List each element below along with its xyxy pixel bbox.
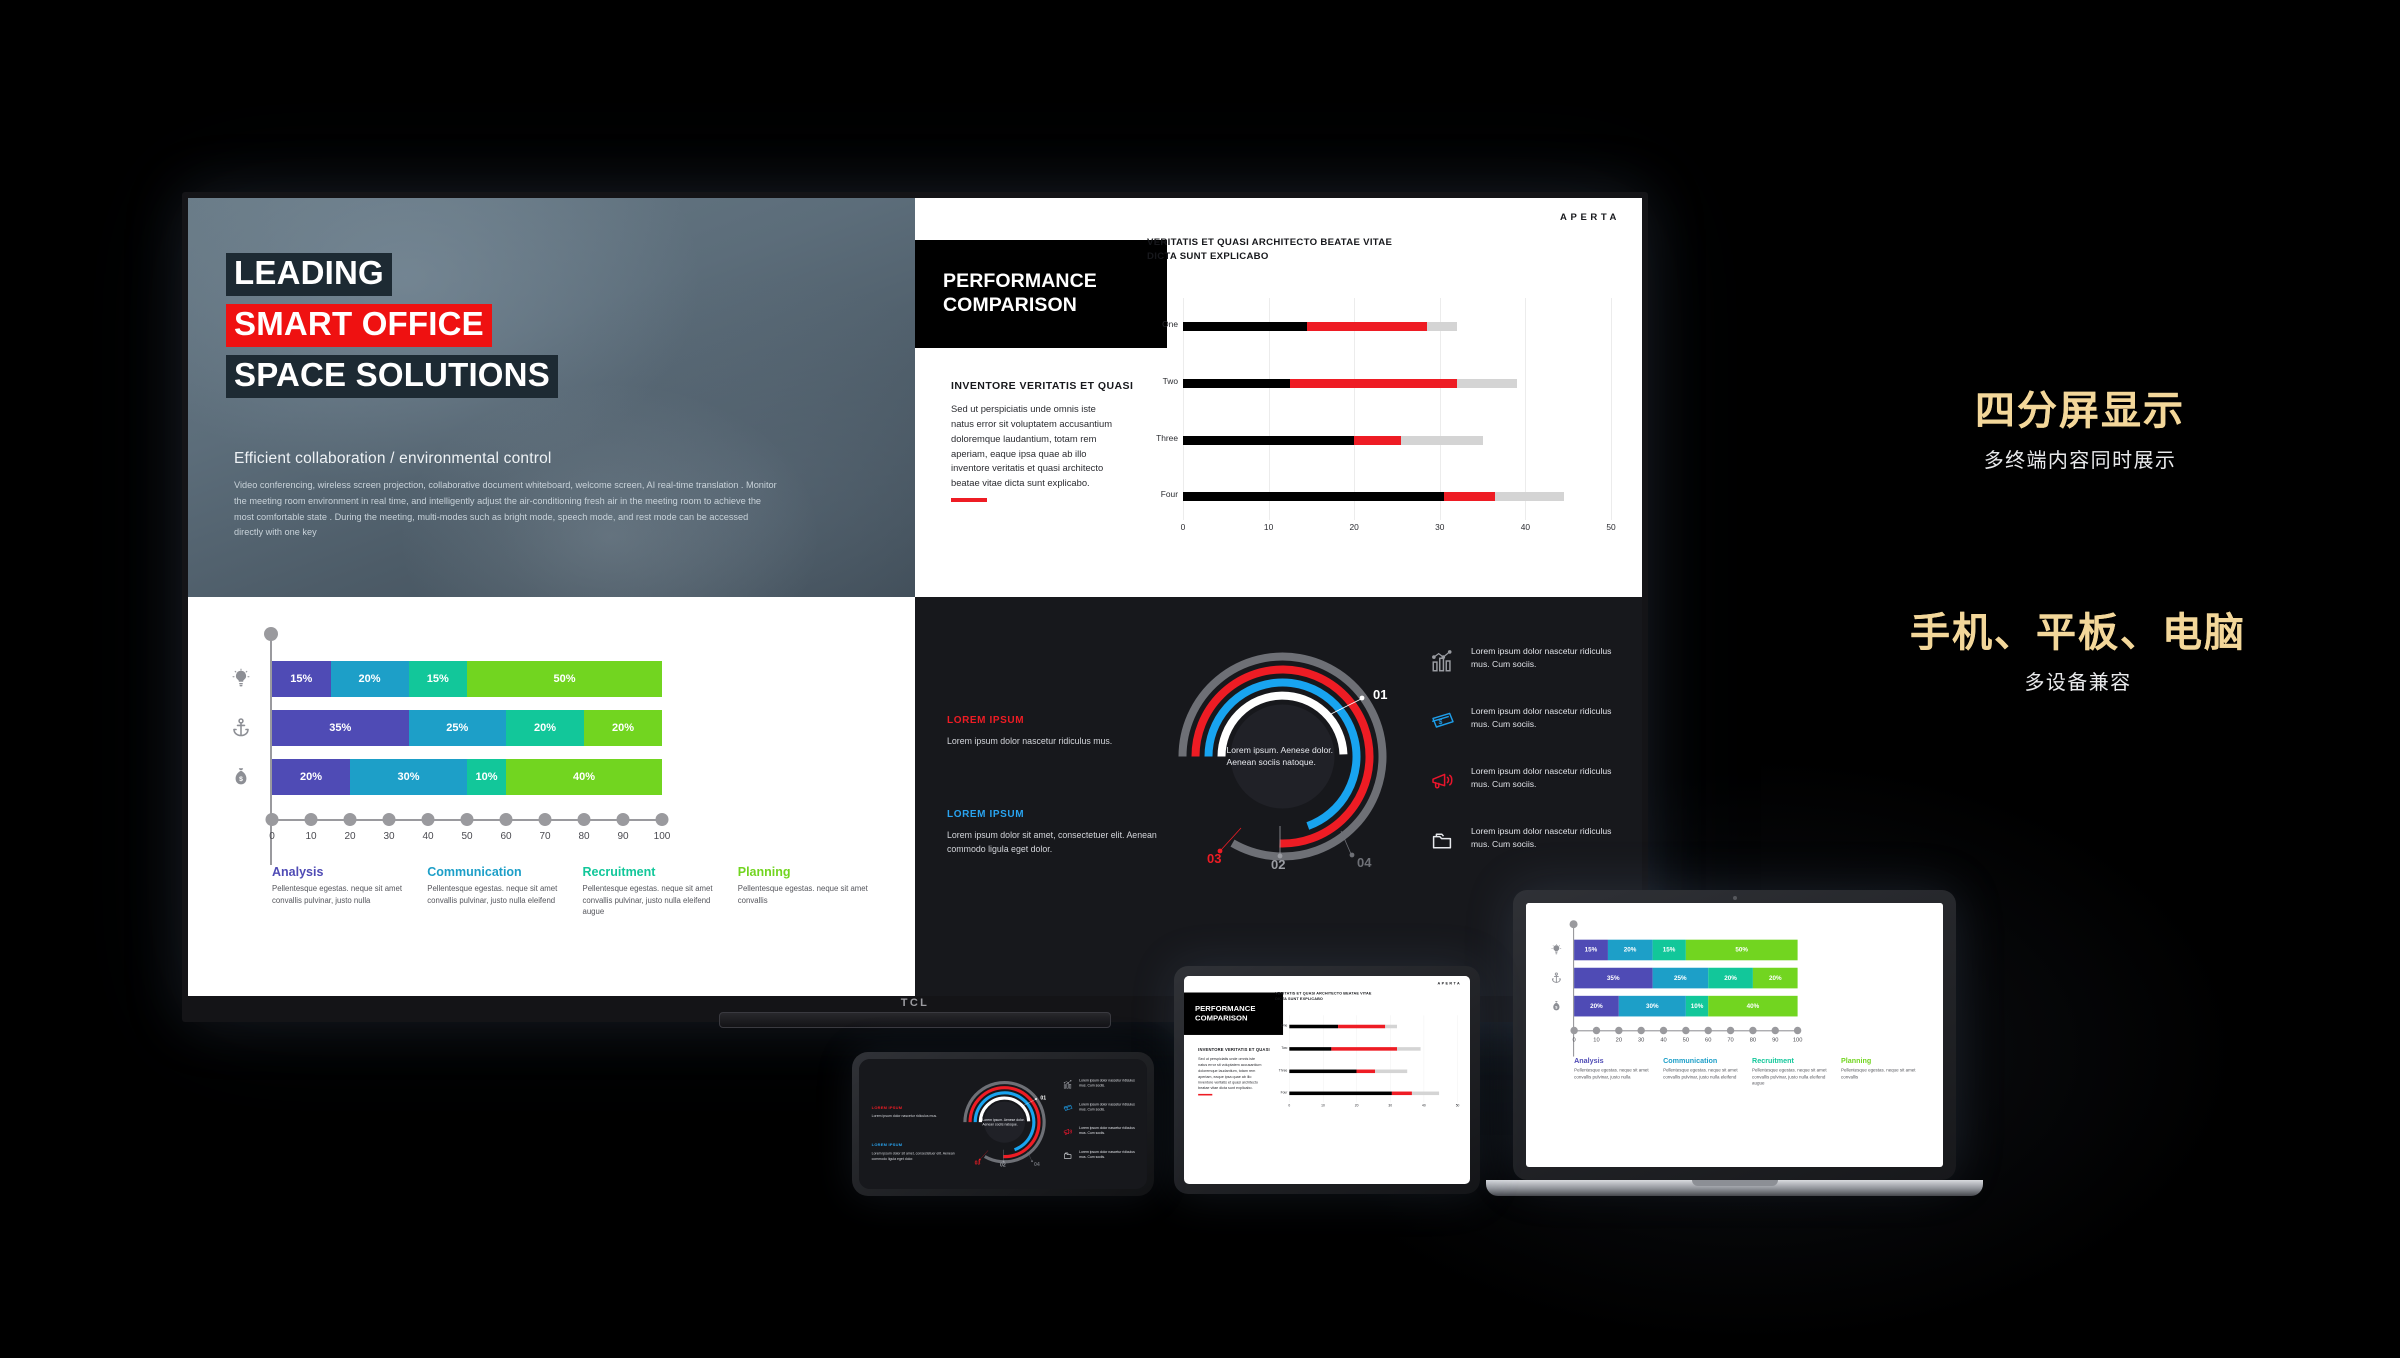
- stacked-segment-analysis: 15%: [1574, 940, 1608, 961]
- legend-text: Pellentesque egestas. neque sit amet con…: [1574, 1067, 1655, 1080]
- x-tick-label: 60: [1705, 1037, 1711, 1043]
- donut-list-item: Lorem ipsum dolor nascetur ridiculus mus…: [1061, 1078, 1136, 1091]
- x-axis-dot: [656, 813, 669, 826]
- donut-kicker-b: LOREM IPSUM: [872, 1143, 963, 1147]
- donut-item-text: Lorem ipsum dolor nascetur ridiculus mus…: [1079, 1149, 1136, 1159]
- laptop-notch: [1692, 1180, 1778, 1186]
- bar-segment-black: [1183, 379, 1290, 388]
- x-axis-dot: [500, 813, 513, 826]
- stacked-bar-row: $20%30%10%40%: [1574, 996, 1797, 1017]
- donut-item-text: Lorem ipsum dolor nascetur ridiculus mus…: [1079, 1102, 1136, 1112]
- bar-segment-red: [1444, 492, 1495, 501]
- x-tick-label: 40: [1521, 522, 1530, 532]
- bar-category-label: One: [1281, 1024, 1287, 1028]
- banknote-icon: $: [1061, 1102, 1075, 1115]
- tv-device: LEADING SMART OFFICE SPACE SOLUTIONS Eff…: [182, 192, 1648, 1022]
- x-tick-label: 50: [461, 831, 472, 842]
- chart-bar-row: Four: [1289, 1092, 1457, 1096]
- stacked-bars: 15%20%15%50%35%25%20%20%$20%30%10%40%: [272, 661, 662, 808]
- chart-legend: AnalysisPellentesque egestas. neque sit …: [272, 865, 893, 918]
- chart-bar-row: One: [1183, 322, 1611, 331]
- lightbulb-icon: [226, 664, 256, 694]
- bar-category-label: Three: [1156, 433, 1178, 443]
- performance-slide-tablet: APERTA PERFORMANCE COMPARISON INVENTORE …: [1184, 976, 1470, 1133]
- donut-list-item: $Lorem ipsum dolor nascetur ridiculus mu…: [1425, 705, 1615, 737]
- x-tick-label: 20: [1355, 1103, 1359, 1107]
- legend-item: RecruitmentPellentesque egestas. neque s…: [1752, 1057, 1841, 1087]
- legend-title: Analysis: [1574, 1057, 1655, 1065]
- tv-stand: [719, 1012, 1111, 1028]
- chart-heading-line2: DICTA SUNT EXPLICABO: [1275, 997, 1393, 1003]
- laptop-camera-icon: [1733, 896, 1737, 900]
- legend-text: Pellentesque egestas. neque sit amet con…: [272, 883, 413, 906]
- x-axis-dot: [1637, 1027, 1644, 1034]
- red-rule: [951, 498, 987, 502]
- x-axis-dot: [1772, 1027, 1779, 1034]
- donut-text-block-b: LOREM IPSUMLorem ipsum dolor sit amet, c…: [947, 809, 1177, 856]
- chart-bar-row: Two: [1289, 1047, 1457, 1051]
- folder-icon: [1061, 1149, 1075, 1162]
- legend-item: CommunicationPellentesque egestas. neque…: [1663, 1057, 1752, 1087]
- x-axis-dot: [305, 813, 318, 826]
- x-axis-dot: [266, 813, 279, 826]
- anchor-icon: [1548, 969, 1565, 986]
- bar-segment-gray: [1385, 1025, 1397, 1029]
- tv-screen: LEADING SMART OFFICE SPACE SOLUTIONS Eff…: [188, 198, 1642, 996]
- stacked-segment-analysis: 35%: [1574, 968, 1652, 989]
- x-tick-label: 50: [1456, 1103, 1460, 1107]
- x-axis-dot: [1615, 1027, 1622, 1034]
- x-tick-label: 50: [1683, 1037, 1689, 1043]
- stacked-bar-row: 15%20%15%50%: [1574, 940, 1797, 961]
- tablet-screen[interactable]: APERTA PERFORMANCE COMPARISON INVENTORE …: [1184, 976, 1470, 1184]
- banknote-icon: $: [1425, 705, 1461, 737]
- performance-title-block: PERFORMANCE COMPARISON: [1184, 993, 1283, 1035]
- megaphone-icon: [1061, 1126, 1075, 1139]
- bar-segment-gray: [1495, 492, 1563, 501]
- x-axis-dot: [422, 813, 435, 826]
- stacked-segment-recruitment: 15%: [1652, 940, 1686, 961]
- legend-title: Planning: [738, 865, 879, 879]
- chart-bars: OneTwoThreeFour: [1183, 298, 1611, 520]
- legend-title: Planning: [1841, 1057, 1922, 1065]
- stacked-segment-planning: 50%: [467, 661, 662, 697]
- svg-text:$: $: [1439, 719, 1443, 726]
- stacked-bars: 15%20%15%50%35%25%20%20%$20%30%10%40%: [1574, 940, 1797, 1024]
- bar-segment-black: [1289, 1025, 1338, 1029]
- bar-segment-gray: [1397, 1047, 1421, 1051]
- red-rule: [1198, 1094, 1212, 1096]
- hero-line-3: SPACE SOLUTIONS: [226, 355, 558, 398]
- legend-title: Analysis: [272, 865, 413, 879]
- stacked-segment-communication: 20%: [1608, 940, 1653, 961]
- x-tick-label: 70: [539, 831, 550, 842]
- performance-subhead: INVENTORE VERITATIS ET QUASI: [1198, 1048, 1270, 1053]
- performance-slide: APERTA PERFORMANCE COMPARISON INVENTORE …: [915, 198, 1642, 597]
- donut-list-item: Lorem ipsum dolor nascetur ridiculus mus…: [1061, 1149, 1136, 1162]
- x-tick-label: 20: [1350, 522, 1359, 532]
- hero-line-2: SMART OFFICE: [226, 304, 492, 347]
- x-tick-label: 0: [1573, 1037, 1576, 1043]
- ring-label-01: 01: [1373, 687, 1387, 702]
- donut-item-text: Lorem ipsum dolor nascetur ridiculus mus…: [1079, 1078, 1136, 1088]
- quadrant-performance[interactable]: APERTA PERFORMANCE COMPARISON INVENTORE …: [915, 198, 1642, 597]
- performance-title-block: PERFORMANCE COMPARISON: [915, 240, 1167, 348]
- x-tick-label: 90: [617, 831, 628, 842]
- x-tick-label: 0: [1288, 1103, 1290, 1107]
- laptop-device: 15%20%15%50%35%25%20%20%$20%30%10%40%010…: [1513, 890, 1983, 1196]
- bar-segment-red: [1392, 1092, 1412, 1096]
- chart-x-axis: 01020304050: [1183, 522, 1611, 538]
- performance-paragraph: Sed ut perspiciatis unde omnis iste natu…: [1198, 1056, 1265, 1091]
- x-tick-label: 40: [422, 831, 433, 842]
- stacked-segment-planning: 50%: [1686, 940, 1798, 961]
- legend-item: PlanningPellentesque egestas. neque sit …: [738, 865, 893, 918]
- bar-segment-gray: [1375, 1069, 1407, 1073]
- x-axis-dot: [383, 813, 396, 826]
- x-axis-dot: [461, 813, 474, 826]
- stacked-segment-analysis: 20%: [272, 759, 350, 795]
- x-axis-dot: [1570, 1027, 1577, 1034]
- stacked-bar-slide-laptop: 15%20%15%50%35%25%20%20%$20%30%10%40%010…: [1526, 903, 1943, 1132]
- bar-segment-red: [1331, 1047, 1397, 1051]
- x-tick-label: 0: [269, 831, 275, 842]
- legend-item: CommunicationPellentesque egestas. neque…: [427, 865, 582, 918]
- x-axis-dot: [539, 813, 552, 826]
- marketing-title-2: 手机、平板、电脑: [1838, 600, 2318, 658]
- stacked-bar-row: $20%30%10%40%: [272, 759, 662, 795]
- money-bag-icon: $: [226, 762, 256, 792]
- hero-slide: LEADING SMART OFFICE SPACE SOLUTIONS Eff…: [188, 198, 915, 597]
- stacked-segment-analysis: 15%: [272, 661, 331, 697]
- chart-x-axis: 01020304050: [1289, 1103, 1457, 1109]
- performance-title-line2: COMPARISON: [1195, 1014, 1283, 1023]
- chart-legend: AnalysisPellentesque egestas. neque sit …: [1574, 1057, 1930, 1087]
- hero-line-1: LEADING: [226, 253, 392, 296]
- lightbulb-icon: [1548, 941, 1565, 958]
- laptop-lid: 15%20%15%50%35%25%20%20%$20%30%10%40%010…: [1513, 890, 1956, 1180]
- x-tick-label: 0: [1181, 522, 1186, 532]
- multi-ring-gauge: Lorem ipsum. Aenese dolor. Aenean sociis…: [962, 1080, 1047, 1165]
- marketing-block-2: 手机、平板、电脑 多设备兼容: [1838, 600, 2318, 695]
- quadrant-stacked-bars[interactable]: 15%20%15%50%35%25%20%20%$20%30%10%40%010…: [188, 597, 915, 996]
- chart-plot-area: OneTwoThreeFour 01020304050: [1289, 1015, 1457, 1109]
- anchor-icon: [226, 713, 256, 743]
- laptop-screen[interactable]: 15%20%15%50%35%25%20%20%$20%30%10%40%010…: [1526, 903, 1943, 1167]
- marketing-sub-1: 多终端内容同时展示: [1870, 444, 2290, 473]
- bar-category-label: Two: [1163, 376, 1178, 386]
- performance-subhead: INVENTORE VERITATIS ET QUASI: [951, 380, 1133, 392]
- bar-segment-red: [1354, 436, 1401, 445]
- bar-segment-black: [1183, 322, 1307, 331]
- bar-category-label: One: [1162, 319, 1178, 329]
- stacked-segment-communication: 25%: [1652, 968, 1708, 989]
- stacked-segment-communication: 20%: [331, 661, 409, 697]
- legend-text: Pellentesque egestas. neque sit amet con…: [1752, 1067, 1833, 1087]
- bar-segment-red: [1290, 379, 1457, 388]
- bar-segment-black: [1289, 1047, 1331, 1051]
- donut-text-block-b: LOREM IPSUMLorem ipsum dolor sit amet, c…: [872, 1143, 963, 1162]
- stacked-segment-recruitment: 10%: [467, 759, 506, 795]
- legend-title: Communication: [427, 865, 568, 879]
- donut-center-label: Lorem ipsum. Aenese dolor. Aenean sociis…: [1227, 744, 1339, 770]
- gridline: [1611, 298, 1612, 520]
- marketing-block-1: 四分屏显示 多终端内容同时展示: [1870, 378, 2290, 473]
- stacked-segment-analysis: 20%: [1574, 996, 1619, 1017]
- ring-label-01: 01: [1040, 1095, 1046, 1101]
- legend-title: Communication: [1663, 1057, 1744, 1065]
- bar-category-label: Four: [1161, 489, 1178, 499]
- bar-category-label: Three: [1279, 1068, 1288, 1072]
- stacked-segment-communication: 25%: [409, 710, 507, 746]
- legend-text: Pellentesque egestas. neque sit amet con…: [427, 883, 568, 906]
- bar-segment-red: [1357, 1069, 1376, 1073]
- bar-segment-red: [1338, 1025, 1385, 1029]
- aperta-logo: APERTA: [1438, 982, 1462, 986]
- stacked-segment-planning: 40%: [1708, 996, 1797, 1017]
- donut-item-text: Lorem ipsum dolor nascetur ridiculus mus…: [1471, 825, 1615, 851]
- ring-label-02: 02: [1000, 1162, 1006, 1168]
- donut-item-text: Lorem ipsum dolor nascetur ridiculus mus…: [1471, 705, 1615, 731]
- donut-text-block-a: LOREM IPSUMLorem ipsum dolor nascetur ri…: [872, 1106, 947, 1119]
- bar-segment-gray: [1401, 436, 1482, 445]
- x-tick-label: 70: [1727, 1037, 1733, 1043]
- donut-text-a: Lorem ipsum dolor nascetur ridiculus mus…: [872, 1114, 947, 1119]
- x-tick-label: 60: [500, 831, 511, 842]
- stacked-segment-recruitment: 20%: [506, 710, 584, 746]
- tablet-device: APERTA PERFORMANCE COMPARISON INVENTORE …: [1174, 966, 1480, 1194]
- performance-title-line2: COMPARISON: [943, 294, 1167, 318]
- stacked-segment-recruitment: 20%: [1708, 968, 1753, 989]
- bar-category-label: Two: [1281, 1046, 1287, 1050]
- chart-bar-row: Four: [1183, 492, 1611, 501]
- ring-label-02: 02: [1271, 857, 1285, 872]
- bar-segment-black: [1183, 436, 1354, 445]
- multi-ring-gauge: Lorem ipsum. Aenese dolor. Aenean sociis…: [1175, 649, 1390, 864]
- folder-icon: [1425, 825, 1461, 857]
- donut-item-list: Lorem ipsum dolor nascetur ridiculus mus…: [1425, 645, 1615, 885]
- chart-bar-row: Two: [1183, 379, 1611, 388]
- bar-segment-gray: [1457, 379, 1517, 388]
- ring-label-03: 03: [1207, 851, 1221, 866]
- chart-bar-row: One: [1289, 1025, 1457, 1029]
- x-tick-label: 10: [1593, 1037, 1599, 1043]
- x-axis-dot: [1727, 1027, 1734, 1034]
- donut-text-b: Lorem ipsum dolor sit amet, consectetuer…: [872, 1151, 963, 1162]
- donut-list-item: Lorem ipsum dolor nascetur ridiculus mus…: [1425, 765, 1615, 797]
- performance-paragraph: Sed ut perspiciatis unde omnis iste natu…: [951, 402, 1121, 491]
- x-tick-label: 100: [1793, 1037, 1803, 1043]
- chart-heading: VERITATIS ET QUASI ARCHITECTO BEATAE VIT…: [1275, 991, 1393, 1002]
- donut-item-list: Lorem ipsum dolor nascetur ridiculus mus…: [1061, 1078, 1136, 1173]
- donut-text-a: Lorem ipsum dolor nascetur ridiculus mus…: [947, 735, 1137, 749]
- x-axis-dot: [1704, 1027, 1711, 1034]
- money-bag-icon: $: [1548, 998, 1565, 1015]
- stacked-segment-planning: 20%: [584, 710, 662, 746]
- hero-body: Video conferencing, wireless screen proj…: [234, 478, 779, 541]
- performance-chart: VERITATIS ET QUASI ARCHITECTO BEATAE VIT…: [1147, 236, 1619, 566]
- chart-heading: VERITATIS ET QUASI ARCHITECTO BEATAE VIT…: [1147, 236, 1447, 265]
- donut-kicker-b: LOREM IPSUM: [947, 809, 1177, 820]
- phone-screen[interactable]: LOREM IPSUMLorem ipsum dolor nascetur ri…: [859, 1059, 1147, 1189]
- x-tick-label: 40: [1660, 1037, 1666, 1043]
- legend-item: AnalysisPellentesque egestas. neque sit …: [1574, 1057, 1663, 1087]
- x-tick-label: 20: [344, 831, 355, 842]
- stacked-segment-planning: 40%: [506, 759, 662, 795]
- stacked-segment-communication: 30%: [1619, 996, 1686, 1017]
- aperta-logo: APERTA: [1560, 212, 1620, 223]
- x-tick-label: 30: [383, 831, 394, 842]
- legend-item: RecruitmentPellentesque egestas. neque s…: [583, 865, 738, 918]
- chart-heading-line2: DICTA SUNT EXPLICABO: [1147, 250, 1447, 264]
- donut-item-text: Lorem ipsum dolor nascetur ridiculus mus…: [1471, 765, 1615, 791]
- donut-list-item: $Lorem ipsum dolor nascetur ridiculus mu…: [1061, 1102, 1136, 1115]
- legend-text: Pellentesque egestas. neque sit amet con…: [583, 883, 724, 918]
- x-axis-dot: [1749, 1027, 1756, 1034]
- phone-device: LOREM IPSUMLorem ipsum dolor nascetur ri…: [852, 1052, 1154, 1196]
- stacked-segment-planning: 20%: [1753, 968, 1798, 989]
- quadrant-hero[interactable]: LEADING SMART OFFICE SPACE SOLUTIONS Eff…: [188, 198, 915, 597]
- screenshot-stage: LEADING SMART OFFICE SPACE SOLUTIONS Eff…: [0, 0, 2400, 1358]
- performance-chart: VERITATIS ET QUASI ARCHITECTO BEATAE VIT…: [1275, 991, 1460, 1121]
- x-tick-label: 80: [1750, 1037, 1756, 1043]
- bar-segment-gray: [1427, 322, 1457, 331]
- laptop-base: [1486, 1180, 1983, 1196]
- donut-list-item: Lorem ipsum dolor nascetur ridiculus mus…: [1425, 645, 1615, 677]
- x-axis-dot: [1660, 1027, 1667, 1034]
- chart-bar-row: Three: [1289, 1069, 1457, 1073]
- donut-item-text: Lorem ipsum dolor nascetur ridiculus mus…: [1079, 1126, 1136, 1136]
- bar-chart-icon: [1425, 645, 1461, 677]
- x-tick-label: 100: [654, 831, 671, 842]
- bar-chart-icon: [1061, 1078, 1075, 1091]
- ring-label-04: 04: [1357, 855, 1371, 870]
- legend-item: PlanningPellentesque egestas. neque sit …: [1841, 1057, 1930, 1087]
- x-axis-dot: [578, 813, 591, 826]
- bar-segment-black: [1183, 492, 1444, 501]
- chart-bar-row: Three: [1183, 436, 1611, 445]
- x-axis-dot: [1593, 1027, 1600, 1034]
- stacked-segment-recruitment: 10%: [1686, 996, 1708, 1017]
- x-tick-label: 10: [1321, 1103, 1325, 1107]
- ring-label-03: 03: [975, 1160, 981, 1166]
- x-tick-label: 40: [1422, 1103, 1426, 1107]
- legend-title: Recruitment: [1752, 1057, 1833, 1065]
- stacked-bar-slide: 15%20%15%50%35%25%20%20%$20%30%10%40%010…: [188, 597, 915, 996]
- hero-subtitle: Efficient collaboration / environmental …: [234, 450, 915, 468]
- legend-item: AnalysisPellentesque egestas. neque sit …: [272, 865, 427, 918]
- legend-text: Pellentesque egestas. neque sit amet con…: [1841, 1067, 1922, 1080]
- x-axis-dot: [617, 813, 630, 826]
- donut-slide-phone: LOREM IPSUMLorem ipsum dolor nascetur ri…: [859, 1059, 1147, 1189]
- x-tick-label: 30: [1435, 522, 1444, 532]
- donut-list-item: Lorem ipsum dolor nascetur ridiculus mus…: [1061, 1126, 1136, 1139]
- donut-item-text: Lorem ipsum dolor nascetur ridiculus mus…: [1471, 645, 1615, 671]
- stacked-bar-row: 15%20%15%50%: [272, 661, 662, 697]
- ring-label-04: 04: [1034, 1161, 1040, 1167]
- megaphone-icon: [1425, 765, 1461, 797]
- chart-plot-area: OneTwoThreeFour 01020304050: [1183, 298, 1611, 538]
- x-tick-label: 30: [1638, 1037, 1644, 1043]
- stacked-segment-communication: 30%: [350, 759, 467, 795]
- donut-text-block-a: LOREM IPSUMLorem ipsum dolor nascetur ri…: [947, 715, 1137, 749]
- bar-category-label: Four: [1281, 1090, 1288, 1094]
- stacked-bar-row: 35%25%20%20%: [1574, 968, 1797, 989]
- x-tick-label: 20: [1616, 1037, 1622, 1043]
- chart-bars: OneTwoThreeFour: [1289, 1015, 1457, 1102]
- x-tick-label: 30: [1388, 1103, 1392, 1107]
- tv-brand-logo: TCL: [901, 997, 930, 1009]
- bar-segment-red: [1307, 322, 1427, 331]
- performance-title-line1: PERFORMANCE: [943, 270, 1167, 294]
- marketing-title-1: 四分屏显示: [1870, 378, 2290, 436]
- chart-heading-line1: VERITATIS ET QUASI ARCHITECTO BEATAE VIT…: [1147, 236, 1447, 250]
- x-tick-label: 50: [1606, 522, 1615, 532]
- legend-text: Pellentesque egestas. neque sit amet con…: [738, 883, 879, 906]
- x-axis-dot: [1682, 1027, 1689, 1034]
- x-axis-dot: [344, 813, 357, 826]
- marketing-sub-2: 多设备兼容: [1838, 666, 2318, 695]
- bar-segment-black: [1289, 1092, 1392, 1096]
- donut-kicker-a: LOREM IPSUM: [947, 715, 1137, 726]
- x-tick-label: 10: [1264, 522, 1273, 532]
- donut-center-label: Lorem ipsum. Aenese dolor. Aenean sociis…: [982, 1117, 1026, 1127]
- x-tick-label: 10: [305, 831, 316, 842]
- legend-text: Pellentesque egestas. neque sit amet con…: [1663, 1067, 1744, 1080]
- donut-list-item: Lorem ipsum dolor nascetur ridiculus mus…: [1425, 825, 1615, 857]
- bar-segment-black: [1289, 1069, 1356, 1073]
- donut-text-b: Lorem ipsum dolor sit amet, consectetuer…: [947, 829, 1177, 856]
- legend-title: Recruitment: [583, 865, 724, 879]
- x-tick-label: 80: [578, 831, 589, 842]
- stacked-bar-row: 35%25%20%20%: [272, 710, 662, 746]
- svg-text:$: $: [239, 776, 243, 783]
- stacked-segment-recruitment: 15%: [409, 661, 468, 697]
- x-axis-dot: [1794, 1027, 1801, 1034]
- x-tick-label: 90: [1772, 1037, 1778, 1043]
- donut-kicker-a: LOREM IPSUM: [872, 1106, 947, 1110]
- performance-title-line1: PERFORMANCE: [1195, 1004, 1283, 1013]
- bar-segment-gray: [1412, 1092, 1439, 1096]
- stacked-segment-analysis: 35%: [272, 710, 409, 746]
